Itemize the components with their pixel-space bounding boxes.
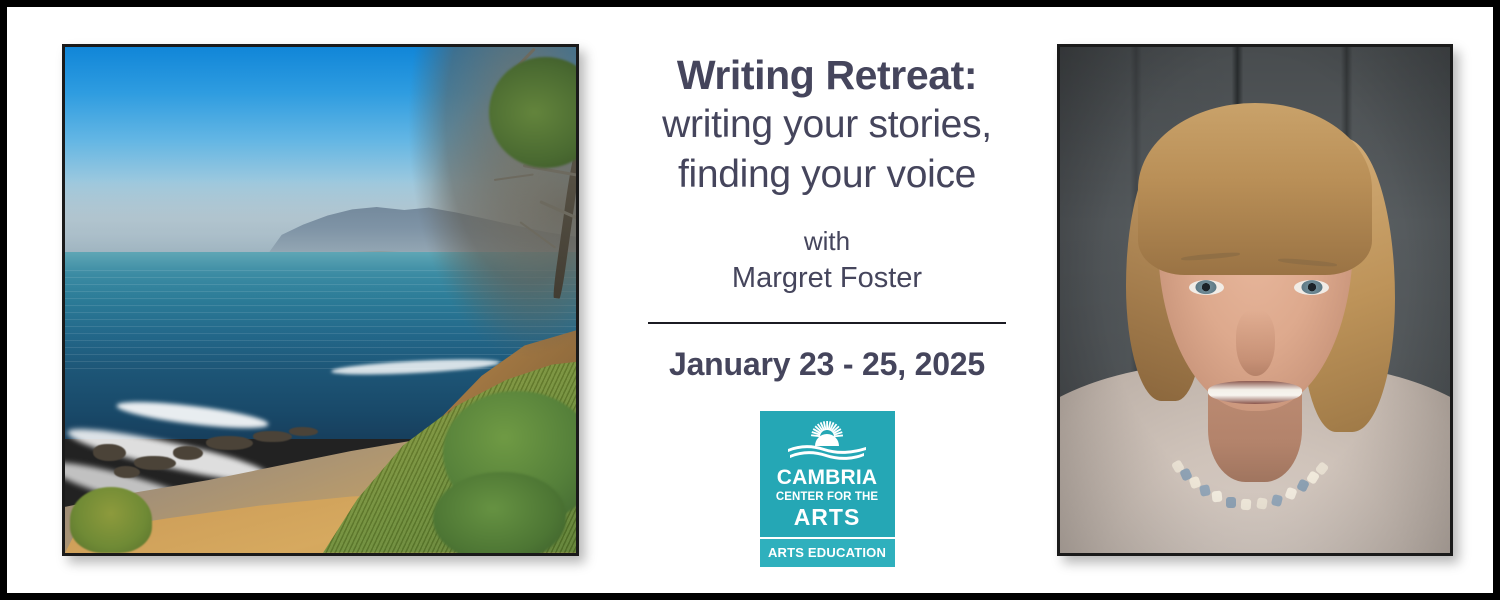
sun-over-waves-icon <box>784 421 870 465</box>
coastal-photo <box>62 44 579 556</box>
subtitle-line-1: writing your stories, <box>607 101 1047 149</box>
shrub-left <box>70 487 152 553</box>
logo-banner-arts-education: ARTS EDUCATION <box>760 537 895 567</box>
logo-line-cambria: CAMBRIA <box>766 467 889 488</box>
logo-main-block: CAMBRIA CENTER FOR THE ARTS <box>760 411 895 537</box>
shore-rocks <box>75 421 371 487</box>
logo-line-arts: ARTS <box>766 505 889 529</box>
flyer-text-column: Writing Retreat: writing your stories, f… <box>607 37 1047 567</box>
portrait-vignette <box>1060 47 1450 553</box>
with-label: with <box>607 225 1047 258</box>
cambria-center-for-the-arts-logo[interactable]: CAMBRIA CENTER FOR THE ARTS ARTS EDUCATI… <box>760 411 895 567</box>
page-title: Writing Retreat: <box>607 51 1047 99</box>
logo-line-center-for-the: CENTER FOR THE <box>766 490 889 504</box>
shrub-bottom <box>433 472 566 553</box>
subtitle-line-2: finding your voice <box>607 151 1047 199</box>
presenter-name: Margret Foster <box>607 260 1047 296</box>
presenter-portrait-photo <box>1057 44 1453 556</box>
event-dates: January 23 - 25, 2025 <box>607 346 1047 383</box>
flyer-canvas: Writing Retreat: writing your stories, f… <box>0 0 1500 600</box>
coastal-photo-image <box>65 47 576 553</box>
presenter-portrait-image <box>1060 47 1450 553</box>
divider-rule <box>648 322 1006 324</box>
